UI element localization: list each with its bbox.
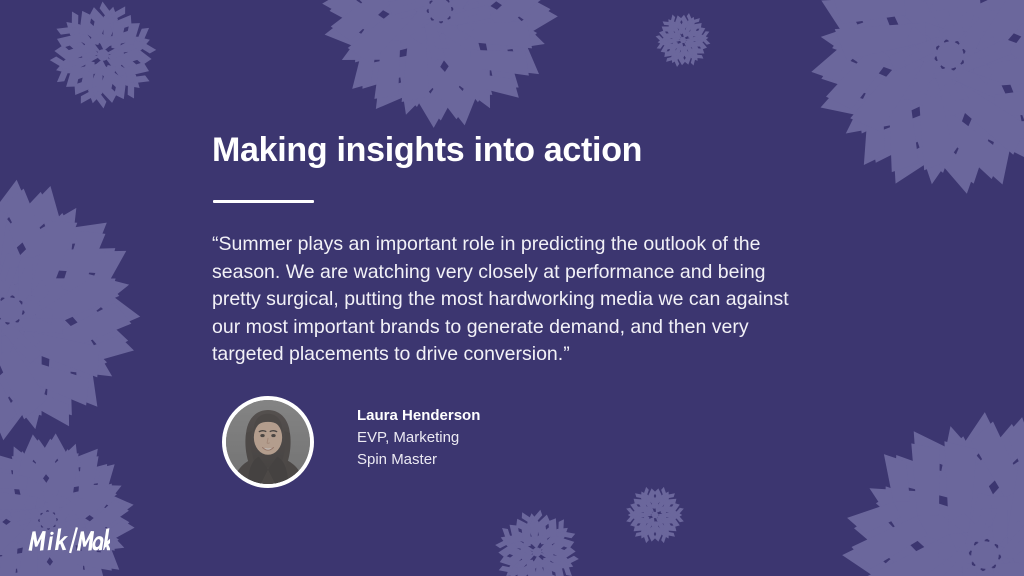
snowflake-left-large [0,137,183,482]
snowflake-top-left [34,0,171,118]
avatar-photo [226,400,310,484]
attribution-role: EVP, Marketing [357,427,637,449]
avatar [222,396,314,488]
quote-text: “Summer plays an important role in predi… [212,231,792,369]
mikmak-logo-wordmark: MikMak [26,524,110,558]
title-divider [213,200,314,203]
slide-canvas: Making insights into action “Summer play… [0,0,1024,576]
page-title: Making insights into action [212,131,642,170]
mikmak-logo: MikMak [26,524,110,558]
content-block: Making insights into action “Summer play… [212,0,832,576]
attribution-text: Laura Henderson EVP, Marketing Spin Mast… [357,405,637,471]
attribution-name: Laura Henderson [357,405,637,427]
attribution-block: Laura Henderson EVP, Marketing Spin Mast… [222,396,642,492]
attribution-company: Spin Master [357,449,637,471]
